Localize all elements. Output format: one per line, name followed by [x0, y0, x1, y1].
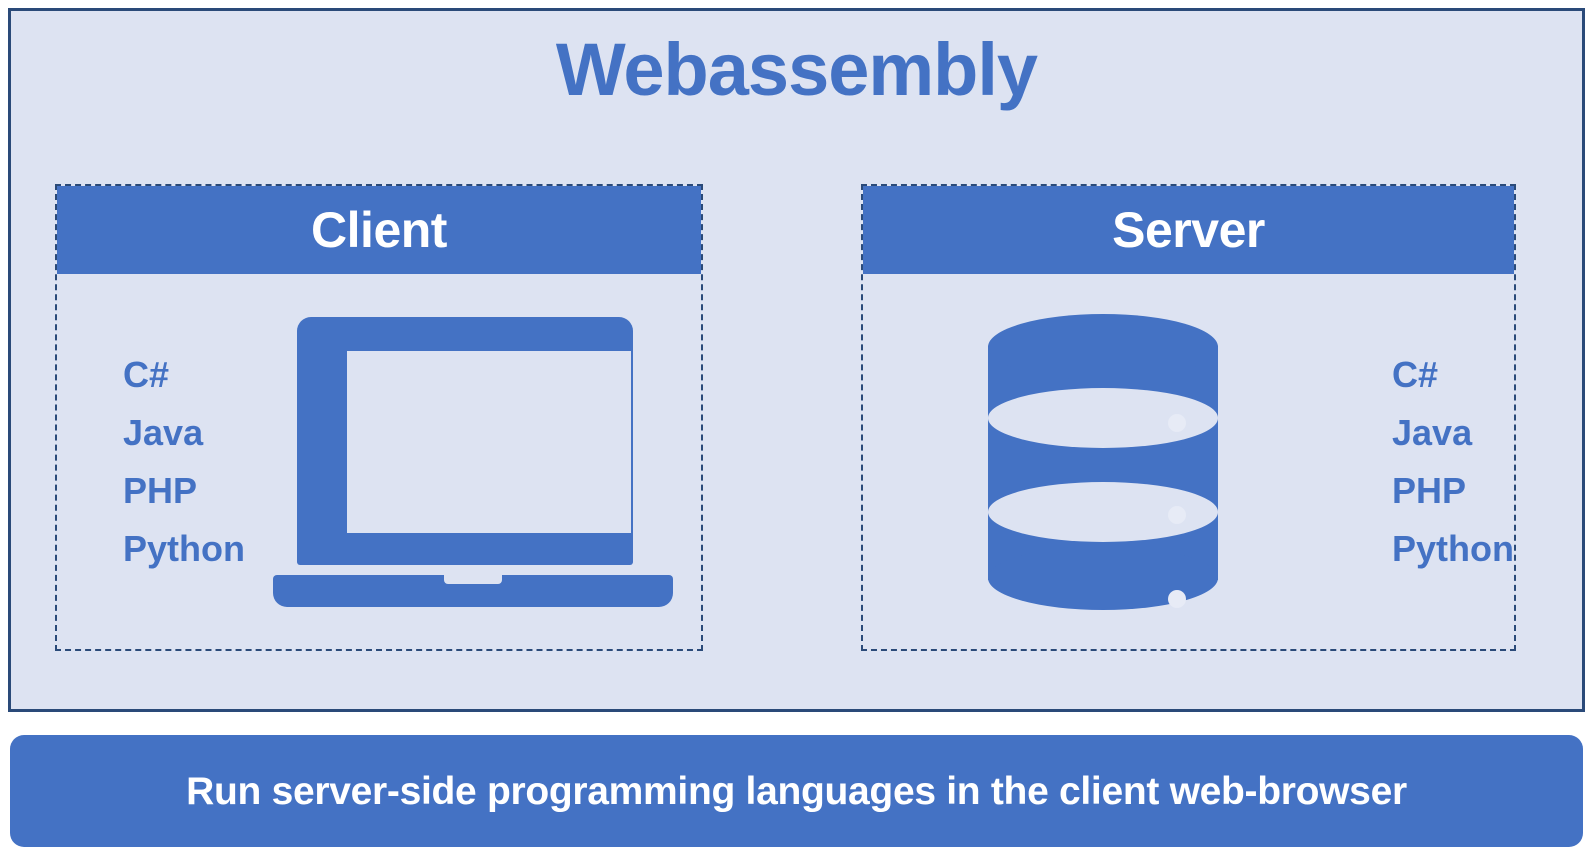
- pane-client: Client C# Java PHP Python: [55, 184, 703, 651]
- server-icon-slot: [853, 274, 1352, 649]
- pane-server: Server: [861, 184, 1516, 651]
- page-title: Webassembly: [11, 33, 1582, 107]
- pane-server-header-label: Server: [1112, 205, 1265, 255]
- laptop-screen: [347, 351, 631, 533]
- pane-client-body: C# Java PHP Python: [57, 274, 701, 649]
- list-item: Java: [1392, 415, 1514, 451]
- server-language-list: C# Java PHP Python: [1392, 357, 1514, 567]
- list-item: PHP: [123, 473, 245, 509]
- database-indicator-dot: [1168, 414, 1186, 432]
- pane-server-body: C# Java PHP Python: [863, 274, 1514, 649]
- diagram-root: Webassembly Client C# Java PHP Python: [0, 0, 1593, 863]
- database-icon: [988, 314, 1218, 610]
- list-item: C#: [1392, 357, 1514, 393]
- list-item: Java: [123, 415, 245, 451]
- laptop-icon: [273, 317, 673, 607]
- main-panel: Webassembly Client C# Java PHP Python: [8, 8, 1585, 712]
- client-icon-slot: [245, 274, 701, 649]
- pane-client-header-label: Client: [311, 205, 447, 255]
- pane-client-header: Client: [57, 186, 701, 274]
- database-indicator-dot: [1168, 590, 1186, 608]
- pane-server-header: Server: [863, 186, 1514, 274]
- laptop-notch: [444, 574, 502, 584]
- list-item: Python: [123, 531, 245, 567]
- database-indicator-dot: [1168, 506, 1186, 524]
- list-item: C#: [123, 357, 245, 393]
- laptop-lid: [297, 317, 633, 565]
- list-item: PHP: [1392, 473, 1514, 509]
- database-top-cap: [988, 314, 1218, 380]
- client-language-list: C# Java PHP Python: [123, 357, 245, 567]
- list-item: Python: [1392, 531, 1514, 567]
- panes-container: Client C# Java PHP Python: [11, 184, 1582, 664]
- summary-banner-text: Run server-side programming languages in…: [186, 772, 1407, 811]
- summary-banner: Run server-side programming languages in…: [10, 735, 1583, 847]
